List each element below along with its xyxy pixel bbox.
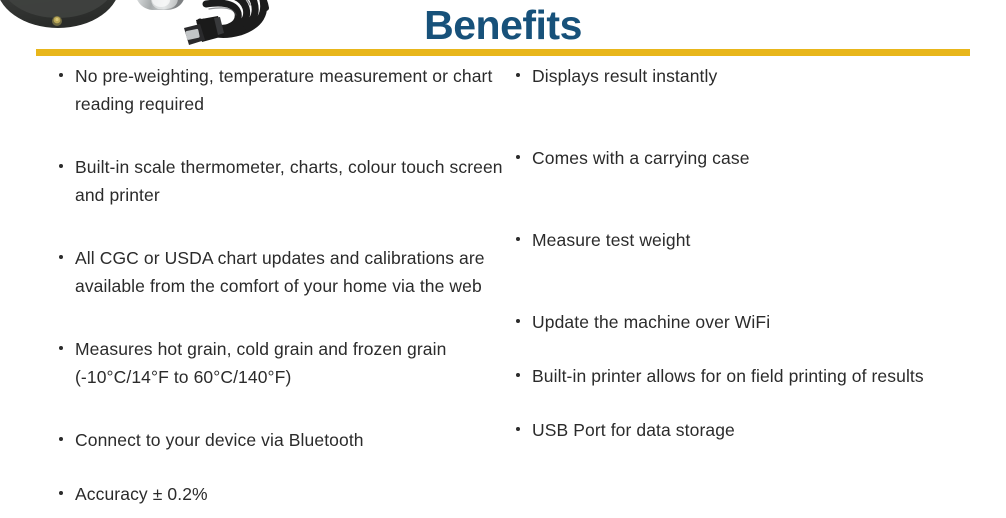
bullet-dot-icon <box>59 346 63 350</box>
list-item-label: Comes with a carrying case <box>532 144 982 172</box>
list-item: Connect to your device via Bluetooth <box>55 426 510 454</box>
list-item: Built-in scale thermometer, charts, colo… <box>55 153 510 209</box>
list-item: Measures hot grain, cold grain and froze… <box>55 335 510 391</box>
list-item-label: Connect to your device via Bluetooth <box>75 426 510 454</box>
list-item: No pre-weighting, temperature measuremen… <box>55 62 510 118</box>
list-item-label: Accuracy ± 0.2% <box>75 480 510 508</box>
list-item-label: Built-in scale thermometer, charts, colo… <box>75 153 510 209</box>
bullet-dot-icon <box>59 73 63 77</box>
benefits-slide: Benefits <box>0 0 1006 518</box>
bullet-dot-icon <box>59 437 63 441</box>
list-item-label: Update the machine over WiFi <box>532 308 982 336</box>
page-title: Benefits <box>0 2 1006 48</box>
bullet-dot-icon <box>516 373 520 377</box>
bullet-dot-icon <box>516 427 520 431</box>
bullet-dot-icon <box>516 155 520 159</box>
benefits-column-right: Displays result instantly Comes with a c… <box>512 62 982 444</box>
list-item-label: USB Port for data storage <box>532 416 982 444</box>
list-item: Measure test weight <box>512 226 982 254</box>
list-item-label: Measure test weight <box>532 226 982 254</box>
bullet-dot-icon <box>59 255 63 259</box>
benefits-columns: No pre-weighting, temperature measuremen… <box>0 62 1006 518</box>
list-item-label: Built-in printer allows for on field pri… <box>532 362 982 390</box>
gold-divider-rule <box>36 49 970 56</box>
list-item-label: Displays result instantly <box>532 62 982 90</box>
list-item-label: All CGC or USDA chart updates and calibr… <box>75 244 510 300</box>
list-item-label: Measures hot grain, cold grain and froze… <box>75 335 510 391</box>
list-item: Built-in printer allows for on field pri… <box>512 362 982 390</box>
benefits-list-left: No pre-weighting, temperature measuremen… <box>55 62 510 508</box>
list-item: Update the machine over WiFi <box>512 308 982 336</box>
bullet-dot-icon <box>59 164 63 168</box>
bullet-dot-icon <box>59 491 63 495</box>
list-item: Accuracy ± 0.2% <box>55 480 510 508</box>
list-item: Displays result instantly <box>512 62 982 90</box>
list-item-label: No pre-weighting, temperature measuremen… <box>75 62 510 118</box>
list-item: All CGC or USDA chart updates and calibr… <box>55 244 510 300</box>
list-item: Comes with a carrying case <box>512 144 982 172</box>
bullet-dot-icon <box>516 319 520 323</box>
benefits-column-left: No pre-weighting, temperature measuremen… <box>55 62 510 508</box>
list-item: USB Port for data storage <box>512 416 982 444</box>
benefits-list-right: Displays result instantly Comes with a c… <box>512 62 982 444</box>
bullet-dot-icon <box>516 73 520 77</box>
slide-header: Benefits <box>0 0 1006 62</box>
bullet-dot-icon <box>516 237 520 241</box>
